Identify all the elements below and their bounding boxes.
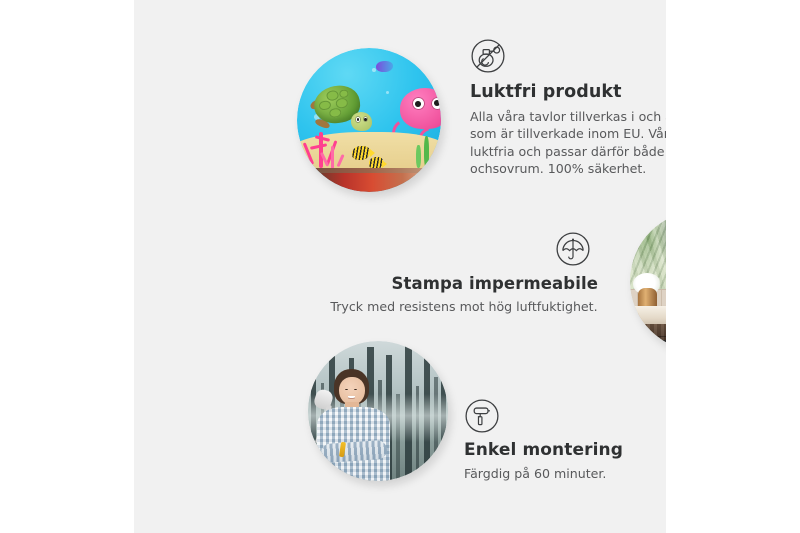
umbrella-icon	[555, 231, 591, 267]
feature-body: Färgdig på 60 minuter.	[464, 465, 666, 482]
feature-waterproof: Stampa impermeabile Tryck med resistens …	[324, 231, 604, 315]
paint-roller-icon	[464, 398, 666, 434]
feature-panel: Luktfri produkt Alla våra tavlor tillver…	[134, 0, 666, 533]
feature-body: Alla våra tavlor tillverkas i och av pro…	[470, 108, 666, 178]
feature-title: Enkel montering	[464, 440, 666, 460]
no-odour-perfume-bottle-icon	[470, 38, 666, 74]
bathroom-tropical-wallpaper-photo	[630, 211, 666, 351]
feature-odourless: Luktfri produkt Alla våra tavlor tillver…	[470, 38, 666, 178]
feature-title: Stampa impermeabile	[324, 274, 604, 293]
feature-body: Tryck med resistens mot hög luftfuktighe…	[324, 298, 604, 315]
woman-with-paint-roller-photo	[308, 341, 448, 481]
feature-easymount: Enkel montering Färgdig på 60 minuter.	[464, 398, 666, 482]
underwater-cartoon-scene-photo	[297, 48, 441, 192]
feature-title: Luktfri produkt	[470, 82, 666, 102]
product-feature-infographic: Luktfri produkt Alla våra tavlor tillver…	[0, 0, 800, 533]
